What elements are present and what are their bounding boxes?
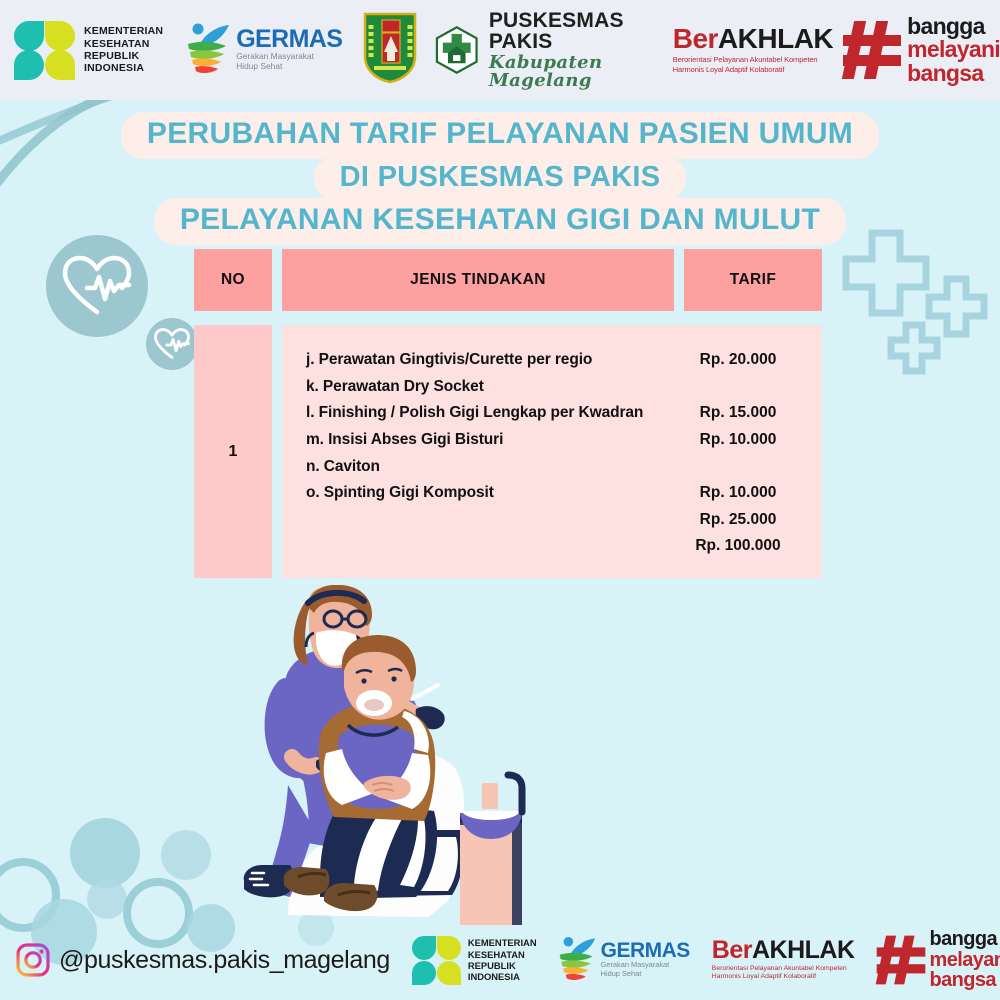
table-row: 1 j. Perawatan Gingtivis/Curette per reg… [194, 325, 822, 578]
title-line-3: PELAYANAN KESEHATAN GIGI DAN MULUT [154, 198, 846, 245]
footer-kemenkes-flower-icon [412, 935, 462, 985]
header-logo-row: KEMENTERIAN KESEHATAN REPUBLIK INDONESIA… [0, 10, 1000, 90]
footer-bangga-text: bangga melayani bangsa [930, 929, 1000, 990]
magelang-coat-of-arms-icon [362, 11, 418, 85]
dentist-illustration [228, 585, 538, 925]
germas-tagline: Gerakan Masyarakat Hidup Sehat [236, 52, 342, 72]
germas-logo-block: GERMAS Gerakan Masyarakat Hidup Sehat [185, 20, 342, 80]
price-list: Rp. 20.000 Rp. 15.000 Rp. 10.000 Rp. 10.… [662, 347, 822, 560]
footer-germas-logo: GERMAS Gerakan Masyarakat Hidup Sehat [557, 934, 690, 986]
kemenkes-line-3: REPUBLIK [84, 50, 163, 62]
germas-name: GERMAS [236, 28, 342, 52]
kemenkes-line-4: INDONESIA [84, 62, 163, 74]
puskesmas-logo-block: PUSKESMAS PAKIS Kabupaten Magelang [434, 10, 652, 90]
footer-bangga-line-2: melayani [930, 950, 1000, 970]
footer-bangga-logo: bangga melayani bangsa [875, 929, 1000, 990]
footer-berakhlak-tagline: Berorientasi Pelayanan Akuntabel Kompete… [712, 965, 855, 983]
list-item: k. Perawatan Dry Socket [306, 374, 648, 401]
berakhlak-main: AKHLAK [718, 23, 833, 54]
heart-pulse-icon [61, 255, 133, 317]
list-item: l. Finishing / Polish Gigi Lengkap per K… [306, 400, 648, 427]
column-header-jenis: JENIS TINDAKAN [282, 249, 674, 311]
list-item: n. Caviton [306, 454, 648, 481]
list-item: j. Perawatan Gingtivis/Curette per regio [306, 347, 648, 374]
berakhlak-tagline-2: Harmonis Loyal Adaptif Kolaboratif [673, 65, 833, 75]
footer-bangga-line-3: bangsa [930, 970, 1000, 990]
footer-germas-name: GERMAS [601, 941, 690, 961]
tariff-table: NO JENIS TINDAKAN TARIF 1 j. Perawatan G… [194, 249, 822, 578]
heart-pulse-icon-small [153, 328, 191, 360]
bangga-text: bangga melayani bangsa [907, 15, 1000, 85]
berakhlak-tagline-1: Berorientasi Pelayanan Akuntabel Kompete… [673, 55, 833, 65]
hash-icon [841, 17, 903, 83]
list-item: o. Spinting Gigi Komposit [306, 480, 648, 507]
instagram-block[interactable]: @puskesmas.pakis_magelang [0, 943, 390, 977]
footer-kemenkes-line-4: INDONESIA [468, 971, 537, 982]
poster-title: PERUBAHAN TARIF PELAYANAN PASIEN UMUM DI… [0, 112, 1000, 243]
treatment-list: j. Perawatan Gingtivis/Curette per regio… [282, 347, 662, 560]
bangga-logo-block: bangga melayani bangsa [841, 15, 1000, 85]
list-item: m. Insisi Abses Gigi Bisturi [306, 427, 648, 454]
footer-bar: @puskesmas.pakis_magelang KEMENTERIAN KE… [0, 920, 1000, 1000]
kemenkes-line-2: KESEHATAN [84, 38, 163, 50]
kemenkes-logo-text: KEMENTERIAN KESEHATAN REPUBLIK INDONESIA [84, 25, 163, 75]
footer-germas-tagline-2: Hidup Sehat [601, 970, 690, 979]
column-header-tarif: TARIF [684, 249, 822, 311]
puskesmas-text: PUSKESMAS PAKIS Kabupaten Magelang [489, 10, 653, 90]
footer-berakhlak-tagline-1: Berorientasi Pelayanan Akuntabel Kompete… [712, 965, 855, 974]
bangga-line-3: bangsa [907, 62, 1000, 85]
footer-berakhlak-logo: BerAKHLAK Berorientasi Pelayanan Akuntab… [712, 938, 855, 983]
price-item: Rp. 100.000 [662, 533, 814, 560]
price-item: Rp. 20.000 [662, 347, 814, 374]
footer-kemenkes-logo: KEMENTERIAN KESEHATAN REPUBLIK INDONESIA [412, 935, 537, 985]
germas-tagline-2: Hidup Sehat [236, 62, 342, 72]
footer-bangga-line-1: bangga [930, 929, 1000, 949]
berakhlak-tagline: Berorientasi Pelayanan Akuntabel Kompete… [673, 55, 833, 75]
heart-pulse-badge-small [146, 318, 198, 370]
price-item: Rp. 10.000 [662, 427, 814, 454]
footer-logo-row: KEMENTERIAN KESEHATAN REPUBLIK INDONESIA… [412, 929, 1000, 990]
footer-berakhlak-tagline-2: Harmonis Loyal Adaptif Kolaboratif [712, 973, 855, 982]
price-item: Rp. 15.000 [662, 400, 814, 427]
bangga-line-1: bangga [907, 15, 1000, 38]
footer-berakhlak-wordmark: BerAKHLAK [712, 938, 855, 963]
berakhlak-logo-block: BerAKHLAK Berorientasi Pelayanan Akuntab… [673, 25, 833, 75]
row-content-cell: j. Perawatan Gingtivis/Curette per regio… [282, 325, 822, 578]
germas-text: GERMAS Gerakan Masyarakat Hidup Sehat [236, 28, 342, 73]
instagram-handle[interactable]: @puskesmas.pakis_magelang [59, 946, 390, 975]
footer-kemenkes-line-2: KESEHATAN [468, 949, 537, 960]
title-line-2: DI PUSKESMAS PAKIS [314, 157, 687, 201]
germas-figure-icon [185, 20, 231, 80]
instagram-icon[interactable] [16, 943, 50, 977]
puskesmas-cross-icon [434, 17, 479, 83]
header-logo-bar: KEMENTERIAN KESEHATAN REPUBLIK INDONESIA… [0, 0, 1000, 100]
footer-germas-text: GERMAS Gerakan Masyarakat Hidup Sehat [601, 941, 690, 978]
title-line-1: PERUBAHAN TARIF PELAYANAN PASIEN UMUM [121, 112, 879, 159]
row-number-cell: 1 [194, 325, 272, 578]
footer-kemenkes-line-1: KEMENTERIAN [468, 937, 537, 948]
puskesmas-subtitle: Kabupaten Magelang [489, 54, 653, 90]
footer-kemenkes-line-3: REPUBLIK [468, 960, 537, 971]
berakhlak-wordmark: BerAKHLAK [673, 25, 833, 53]
kemenkes-logo-block: KEMENTERIAN KESEHATAN REPUBLIK INDONESIA [14, 19, 163, 81]
berakhlak-prefix: Ber [673, 23, 718, 54]
footer-berakhlak-prefix: Ber [712, 936, 752, 964]
footer-kemenkes-text: KEMENTERIAN KESEHATAN REPUBLIK INDONESIA [468, 937, 537, 982]
magelang-coat-of-arms-block [362, 11, 418, 90]
puskesmas-name: PUSKESMAS PAKIS [489, 10, 653, 52]
heart-pulse-badge-large [46, 235, 148, 337]
price-item: Rp. 25.000 [662, 507, 814, 534]
footer-hash-icon [875, 932, 927, 988]
price-item: Rp. 10.000 [662, 480, 814, 507]
footer-germas-figure-icon [557, 934, 597, 986]
column-header-no: NO [194, 249, 272, 311]
bangga-line-2: melayani [907, 38, 1000, 61]
footer-berakhlak-main: AKHLAK [752, 936, 855, 964]
kemenkes-flower-icon [14, 19, 76, 81]
footer-germas-tagline: Gerakan Masyarakat Hidup Sehat [601, 961, 690, 978]
kemenkes-line-1: KEMENTERIAN [84, 25, 163, 37]
table-header-row: NO JENIS TINDAKAN TARIF [194, 249, 822, 311]
